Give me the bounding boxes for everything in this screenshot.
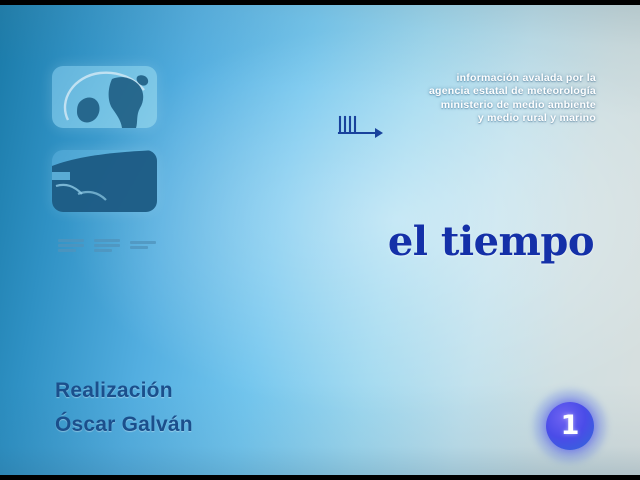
weather-title-card: información avalada por la agencia estat… — [0, 0, 640, 480]
channel-logo-bug: 1 — [546, 402, 594, 450]
globe-graphic-panel — [52, 66, 157, 128]
attribution-line-4: y medio rural y marino — [356, 112, 596, 125]
channel-number: 1 — [546, 402, 594, 450]
letterbox-bar-top — [0, 0, 640, 5]
bar-glyph — [58, 239, 84, 252]
bar-glyph-strip — [58, 238, 156, 252]
globe-icon — [52, 66, 157, 128]
program-title: el tiempo — [388, 218, 594, 265]
aemet-attribution-text: información avalada por la agencia estat… — [356, 72, 596, 126]
attribution-line-2: agencia estatal de meteorología — [356, 85, 596, 98]
credit-role: Realización — [55, 374, 193, 408]
bar-glyph — [130, 241, 156, 249]
production-credits: Realización Óscar Galván — [55, 374, 193, 442]
wave-graphic-panel — [52, 150, 157, 212]
credit-name: Óscar Galván — [55, 408, 193, 442]
bar-glyph — [94, 239, 120, 252]
wave-swoosh-icon — [52, 150, 157, 212]
letterbox-bar-bottom — [0, 475, 640, 480]
attribution-line-1: información avalada por la — [356, 72, 596, 85]
attribution-line-3: ministerio de medio ambiente — [356, 99, 596, 112]
